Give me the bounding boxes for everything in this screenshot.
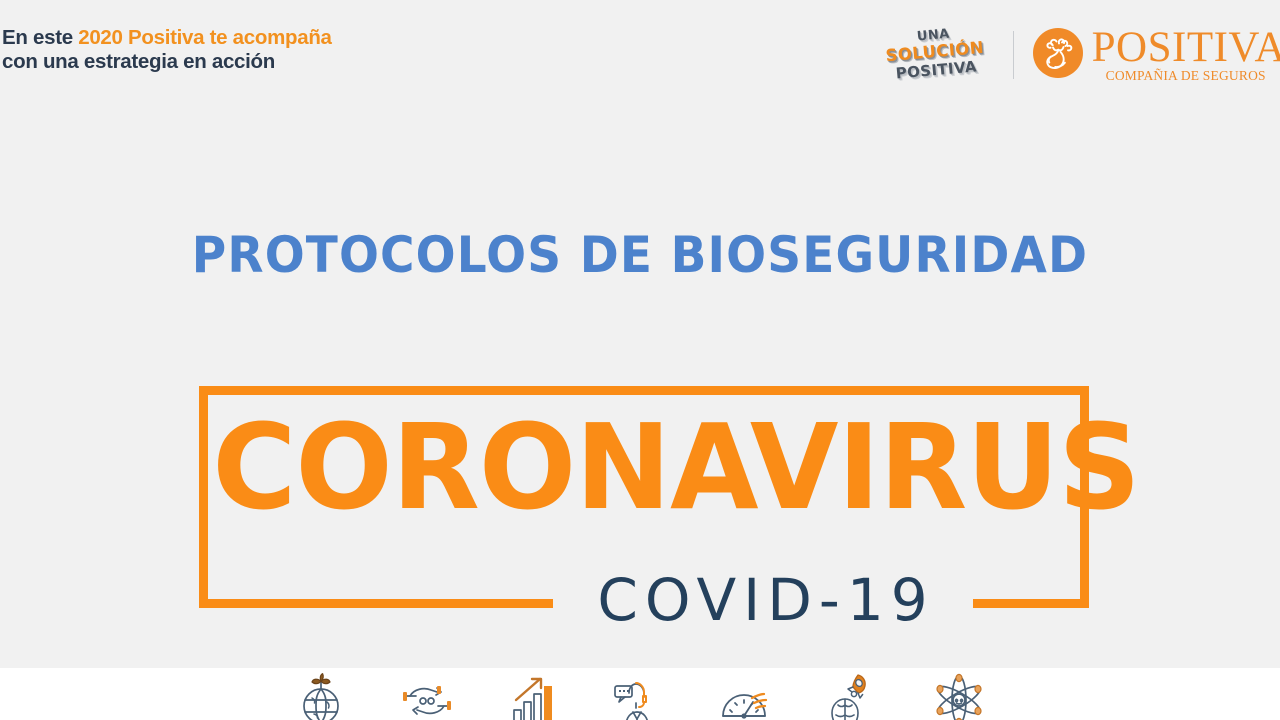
positiva-logo: POSITIVA COMPAÑIA DE SEGUROS [1032, 27, 1280, 84]
tagline-line1-prefix: En este [2, 26, 78, 49]
tagline-line1-accent: 2020 Positiva te acompaña [78, 26, 331, 49]
speedometer-icon [715, 672, 777, 720]
rocket-brain-icon [822, 672, 884, 720]
brand-lockup: UNA SOLUCIÓN POSITIVA [875, 24, 1280, 86]
bar-chart-growth-icon [503, 672, 565, 720]
handshake-exchange-icon [396, 672, 458, 720]
slogan-mark: UNA SOLUCIÓN POSITIVA [872, 22, 996, 88]
globe-plant-icon [290, 672, 352, 720]
positiva-wordblock: POSITIVA COMPAÑIA DE SEGUROS [1092, 28, 1280, 82]
header-tagline: En este 2020 Positiva te acompaña con un… [2, 26, 332, 74]
covid-subheadline: COVID-19 [597, 571, 934, 629]
positiva-wordmark: POSITIVA [1092, 28, 1280, 68]
coronavirus-headline: CORONAVIRUS [212, 408, 1075, 526]
positiva-tagline: COMPAÑIA DE SEGUROS [1106, 69, 1266, 83]
customer-service-agent-icon [609, 672, 671, 720]
covid-subheadline-band: COVID-19 [553, 565, 973, 635]
footer-icon-row [290, 672, 990, 720]
tagline-line2: con una estrategia en acción [2, 50, 332, 74]
slide-canvas: En este 2020 Positiva te acompaña con un… [0, 0, 1280, 720]
positiva-flower-badge-icon [1032, 27, 1084, 84]
brand-divider [1013, 31, 1014, 79]
page-title: PROTOCOLOS DE BIOSEGURIDAD [38, 226, 1241, 284]
atom-molecule-icon [928, 672, 990, 720]
